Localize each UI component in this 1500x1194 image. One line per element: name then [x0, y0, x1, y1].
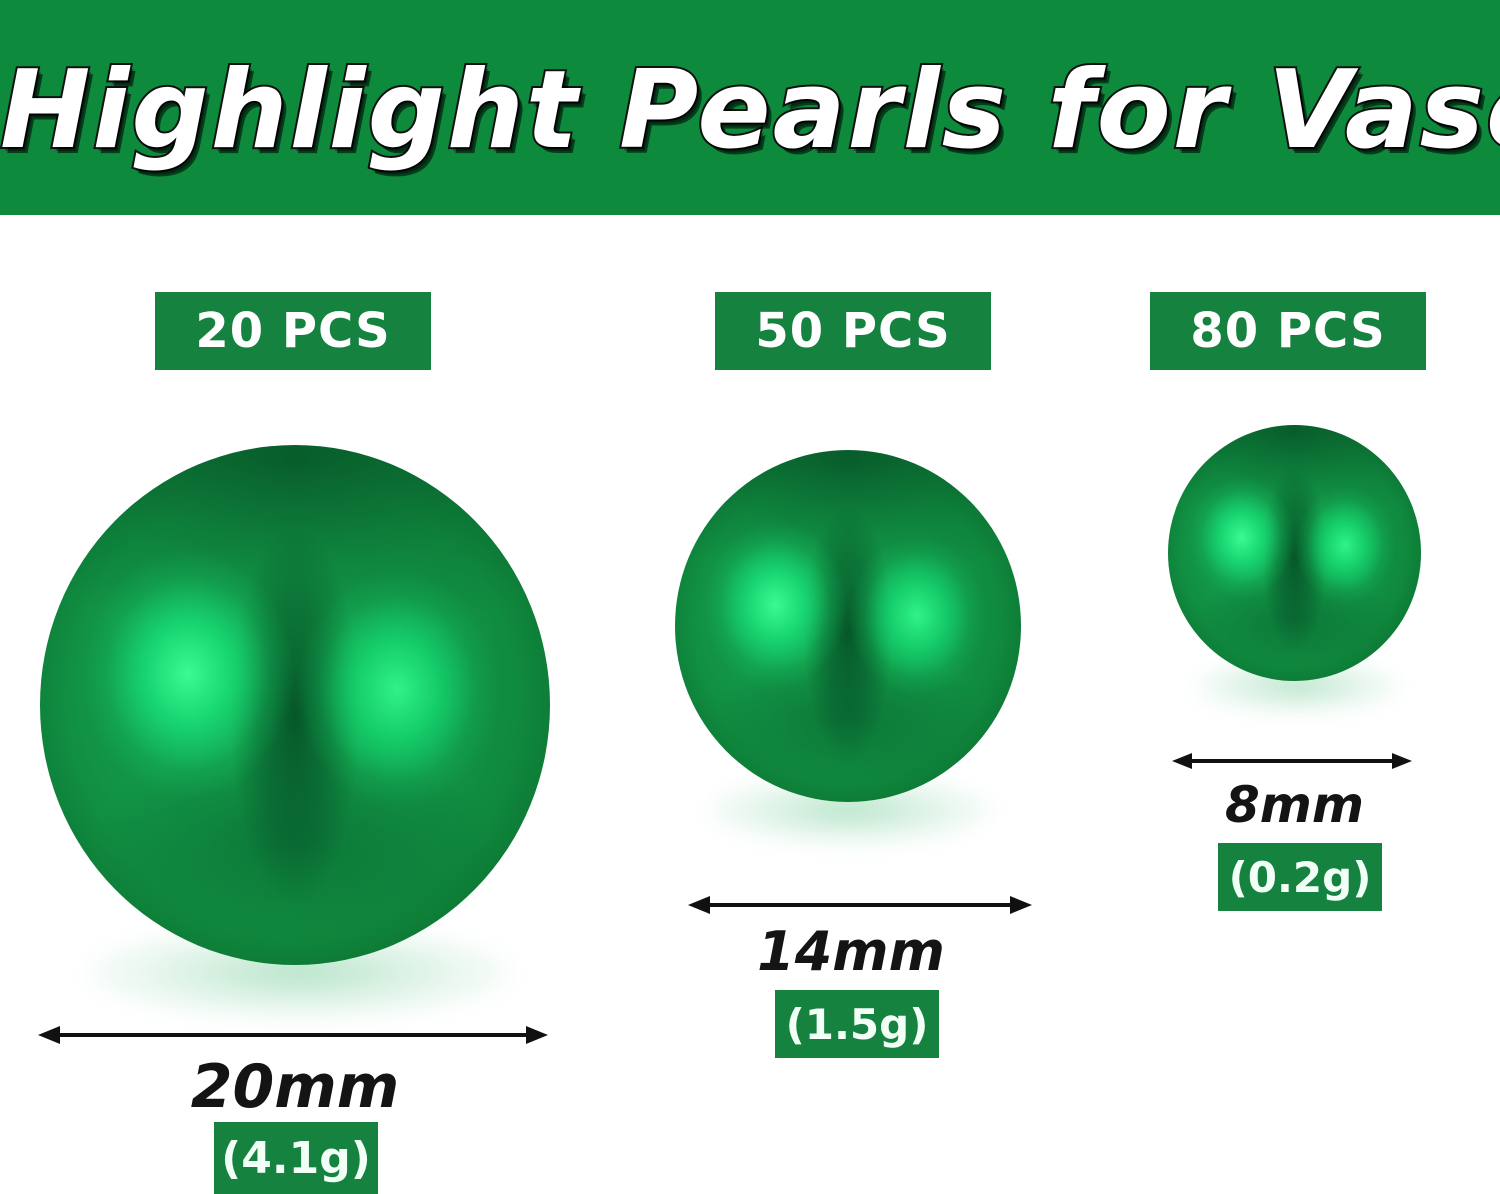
pearl-image-medium: [675, 450, 1021, 802]
dimension-arrow-medium: [686, 888, 1034, 922]
dimension-arrow-small: [1170, 744, 1414, 778]
pearl-sphere-medium: [675, 450, 1021, 802]
pearl-sphere-small: [1168, 425, 1421, 681]
pearl-sphere-large: [40, 445, 550, 965]
size-label-8mm: 8mm: [1168, 776, 1421, 834]
size-label-14mm: 14mm: [678, 920, 1024, 983]
product-infographic: Highlight Pearls for Vase 20 PCS 50 PCS …: [0, 0, 1500, 1194]
pearl-image-large: [40, 445, 550, 965]
page-title: Highlight Pearls for Vase: [0, 46, 1500, 176]
weight-badge-large: (4.1g): [214, 1122, 378, 1194]
count-badge-50pcs: 50 PCS: [715, 292, 991, 370]
count-badge-80pcs: 80 PCS: [1150, 292, 1426, 370]
weight-badge-medium: (1.5g): [775, 990, 939, 1058]
pearl-image-small: [1168, 425, 1421, 681]
dimension-arrow-large: [36, 1018, 550, 1052]
size-label-20mm: 20mm: [40, 1052, 550, 1122]
weight-badge-small: (0.2g): [1218, 843, 1382, 911]
header-banner: Highlight Pearls for Vase: [0, 0, 1500, 215]
count-badge-20pcs: 20 PCS: [155, 292, 431, 370]
